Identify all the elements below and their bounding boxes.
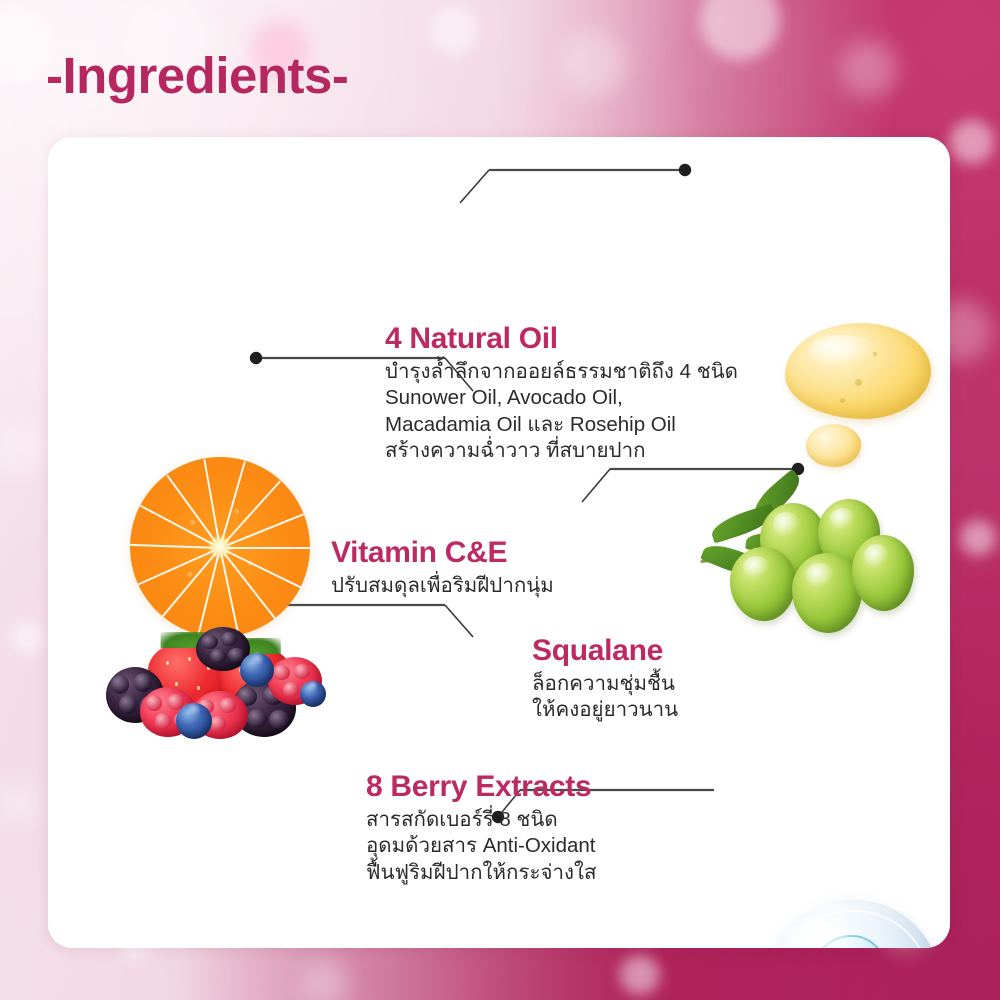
ingredient-description-line: บำรุงล้ำลึกจากออยล์ธรรมชาติถึง 4 ชนิด bbox=[385, 359, 738, 386]
page-title: -Ingredients- bbox=[46, 46, 348, 105]
bokeh-dot bbox=[620, 955, 660, 995]
bokeh-dot bbox=[300, 960, 348, 1000]
bokeh-dot bbox=[430, 6, 478, 54]
leader-dot bbox=[250, 352, 262, 364]
olive bbox=[730, 547, 796, 621]
ingredient-description: สารสกัดเบอร์รี่ 8 ชนิด อุดมด้วยสาร Anti-… bbox=[366, 807, 597, 887]
water-bubble-icon bbox=[767, 900, 941, 948]
green-olives-icon bbox=[700, 477, 920, 637]
ingredient-description: บำรุงล้ำลึกจากออยล์ธรรมชาติถึง 4 ชนิด Su… bbox=[385, 359, 738, 466]
blueberry bbox=[176, 703, 212, 739]
bokeh-dot bbox=[10, 620, 44, 654]
ingredient-heading: Squalane bbox=[532, 635, 678, 667]
bokeh-dot bbox=[840, 40, 898, 98]
ingredient-heading: Vitamin C&E bbox=[331, 537, 554, 569]
oil-bubble bbox=[873, 352, 877, 356]
blueberry bbox=[300, 681, 326, 707]
ingredient-block-natural-oil: 4 Natural Oil บำรุงล้ำลึกจากออยล์ธรรมชาต… bbox=[385, 323, 738, 465]
orange-core bbox=[212, 539, 228, 555]
orange-segment bbox=[220, 547, 310, 549]
ingredient-heading: 8 Berry Extracts bbox=[366, 771, 597, 803]
ingredient-description-line: Macadamia Oil และ Rosehip Oil bbox=[385, 412, 738, 439]
oil-bubble bbox=[855, 379, 862, 386]
orange-slice-icon bbox=[130, 457, 310, 637]
oil-sheen bbox=[808, 335, 875, 368]
orange-segment bbox=[140, 505, 220, 549]
bokeh-dot bbox=[950, 120, 994, 164]
orange-segment bbox=[130, 544, 220, 549]
blueberry bbox=[240, 653, 274, 687]
ingredient-block-vitamin-ce: Vitamin C&E ปรับสมดุลเพื่อริมฝีปากนุ่ม bbox=[331, 537, 554, 599]
ingredient-description-line: ฟื้นฟูริมฝีปากให้กระจ่างใส bbox=[366, 860, 597, 887]
ingredient-description-line: ปรับสมดุลเพื่อริมฝีปากนุ่ม bbox=[331, 573, 554, 600]
ingredient-heading: 4 Natural Oil bbox=[385, 323, 738, 355]
ingredient-description-line: สารสกัดเบอร์รี่ 8 ชนิด bbox=[366, 807, 597, 834]
orange-segment bbox=[137, 547, 220, 585]
ingredient-description-line: อุดมด้วยสาร Anti-Oxidant bbox=[366, 833, 597, 860]
oil-droplets-icon bbox=[785, 323, 931, 419]
ingredient-description-line: Sunower Oil, Avocado Oil, bbox=[385, 385, 738, 412]
ingredient-block-squalane: Squalane ล็อกความชุ่มชื้น ให้คงอยู่ยาวนา… bbox=[532, 635, 678, 724]
ingredient-description: ปรับสมดุลเพื่อริมฝีปากนุ่ม bbox=[331, 573, 554, 600]
orange-segment bbox=[220, 547, 302, 588]
bokeh-dot bbox=[560, 30, 626, 96]
mixed-berries-icon bbox=[92, 625, 322, 741]
leader-line-natural-oil bbox=[460, 164, 691, 203]
ingredient-description: ล็อกความชุ่มชื้น ให้คงอยู่ยาวนาน bbox=[532, 671, 678, 724]
leader-dot bbox=[679, 164, 691, 176]
ingredient-block-berry-extracts: 8 Berry Extracts สารสกัดเบอร์รี่ 8 ชนิด … bbox=[366, 771, 597, 886]
ingredient-description-line: ให้คงอยู่ยาวนาน bbox=[532, 697, 678, 724]
ingredient-description-line: สร้างความฉ่ำวาว ที่สบายปาก bbox=[385, 438, 738, 465]
ingredient-description-line: ล็อกความชุ่มชื้น bbox=[532, 671, 678, 698]
bokeh-dot bbox=[960, 520, 996, 556]
oil-droplet-small-icon bbox=[806, 424, 861, 467]
oil-bubble bbox=[840, 398, 845, 403]
ingredients-card: 4 Natural Oil บำรุงล้ำลึกจากออยล์ธรรมชาต… bbox=[48, 137, 950, 948]
olive bbox=[852, 535, 914, 611]
